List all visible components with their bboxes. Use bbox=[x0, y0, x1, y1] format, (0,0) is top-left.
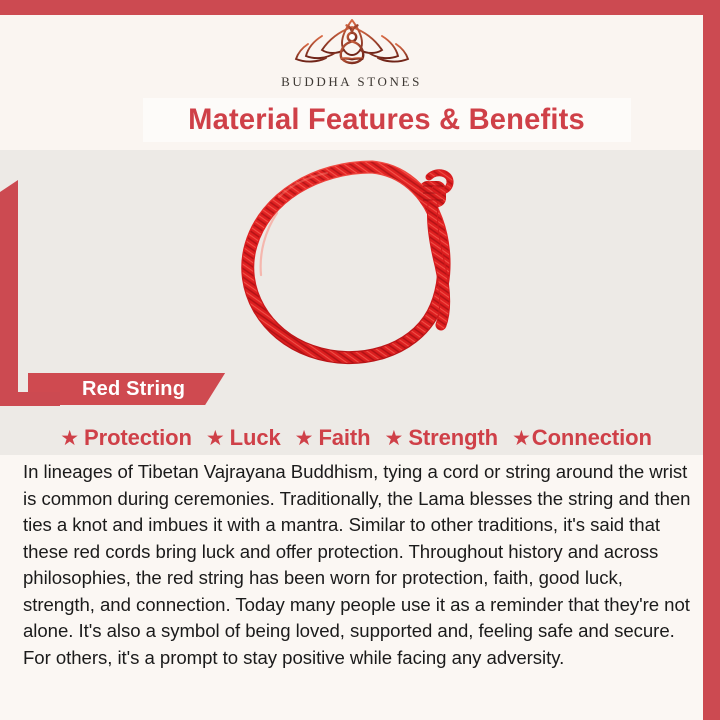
benefit-label: Faith bbox=[318, 425, 370, 451]
product-image bbox=[0, 150, 703, 375]
star-icon: ★ bbox=[295, 428, 314, 449]
benefit-item-connection: ★ Connection bbox=[512, 425, 652, 451]
brand-logo: BUDDHA STONES bbox=[0, 14, 703, 90]
description-text: In lineages of Tibetan Vajrayana Buddhis… bbox=[23, 459, 691, 671]
benefit-label: Strength bbox=[408, 425, 498, 451]
left-accent-bar-foot bbox=[0, 392, 60, 406]
star-icon: ★ bbox=[60, 428, 79, 449]
right-accent-bar bbox=[703, 0, 720, 720]
star-icon: ★ bbox=[206, 428, 225, 449]
page-title-band: Material Features & Benefits bbox=[143, 98, 631, 142]
product-name-label: Red String bbox=[82, 378, 185, 401]
benefit-label: Protection bbox=[84, 425, 192, 451]
benefit-label: Luck bbox=[230, 425, 281, 451]
top-accent-bar bbox=[0, 0, 720, 15]
benefit-item-protection: ★ Protection bbox=[60, 425, 192, 451]
red-braided-string-bracelet-icon bbox=[207, 153, 497, 373]
benefit-item-luck: ★ Luck bbox=[206, 425, 281, 451]
benefits-list: ★ Protection ★ Luck ★ Faith ★ Strength ★… bbox=[26, 421, 686, 455]
benefit-item-faith: ★ Faith bbox=[295, 425, 371, 451]
page-title: Material Features & Benefits bbox=[189, 103, 586, 137]
infographic-card: BUDDHA STONES Material Features & Benefi… bbox=[0, 0, 720, 720]
benefit-item-strength: ★ Strength bbox=[385, 425, 498, 451]
star-icon: ★ bbox=[385, 428, 404, 449]
lotus-meditation-icon bbox=[292, 14, 412, 70]
brand-name: BUDDHA STONES bbox=[281, 74, 422, 90]
left-accent-bar bbox=[0, 180, 18, 406]
star-icon: ★ bbox=[512, 428, 531, 449]
benefit-label: Connection bbox=[532, 425, 652, 451]
